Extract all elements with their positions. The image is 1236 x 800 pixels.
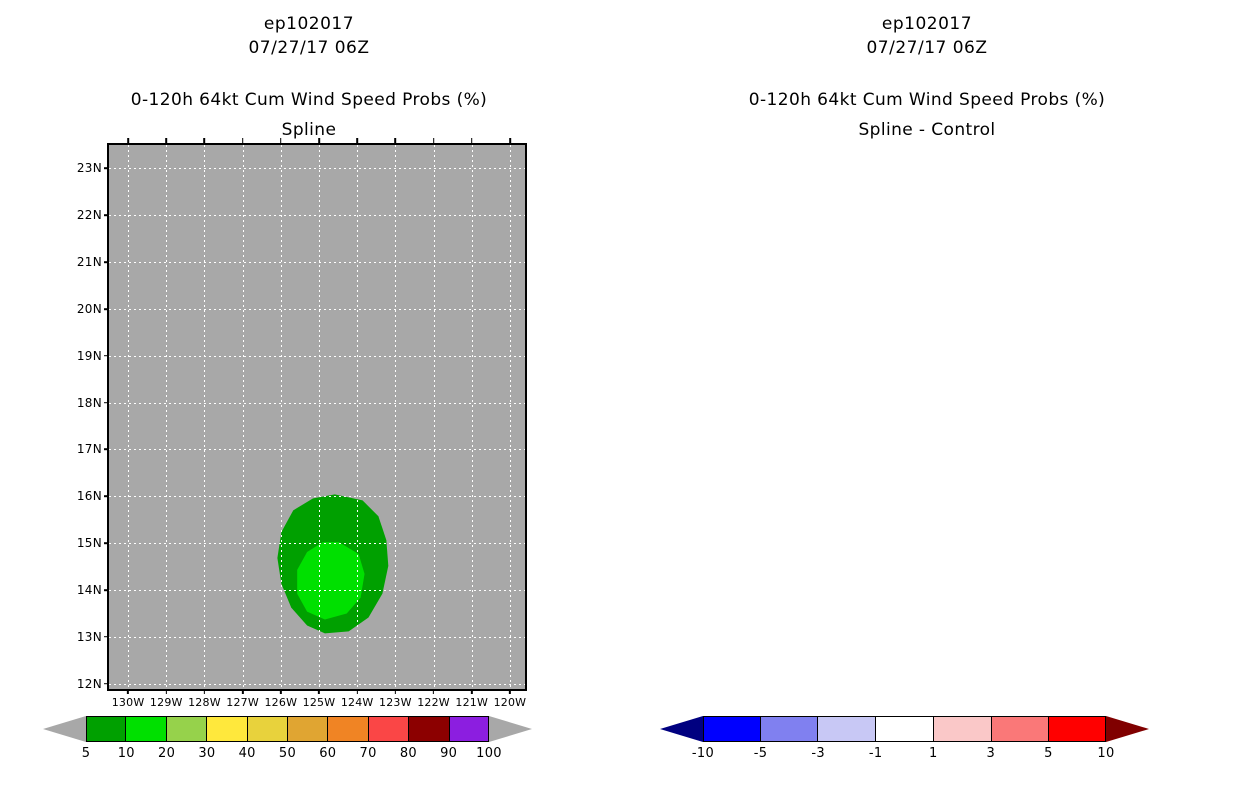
gridline-horizontal — [109, 637, 525, 638]
y-axis-tick-label: 12N — [77, 677, 109, 691]
x-axis-tick-top — [204, 138, 206, 144]
gridline-vertical — [281, 145, 282, 689]
y-axis-tick-label: 23N — [77, 161, 109, 175]
gridline-vertical — [472, 145, 473, 689]
storm-id-right: ep102017 — [618, 14, 1236, 34]
x-axis-tick-top — [433, 138, 435, 144]
y-axis-tick-label: 13N — [77, 630, 109, 644]
gridline-horizontal — [109, 590, 525, 591]
x-axis-tick-label: 127W — [226, 689, 259, 709]
datetime-left: 07/27/17 06Z — [0, 38, 618, 58]
x-axis-tick-label: 129W — [150, 689, 183, 709]
gridline-horizontal — [109, 356, 525, 357]
x-axis-tick-label: 125W — [303, 689, 336, 709]
map-canvas-left — [109, 145, 525, 689]
colorbar-tick-label: -1 — [869, 746, 883, 761]
probability-contours-left — [109, 145, 525, 689]
gridline-horizontal — [109, 496, 525, 497]
x-axis-tick-top — [242, 138, 244, 144]
gridline-vertical — [243, 145, 244, 689]
x-axis-tick-label: 130W — [112, 689, 145, 709]
x-axis-tick-label: 126W — [264, 689, 297, 709]
panel-spline: ep102017 07/27/17 06Z 0-120h 64kt Cum Wi… — [0, 0, 618, 800]
gridline-horizontal — [109, 543, 525, 544]
gridline-horizontal — [109, 449, 525, 450]
x-axis-tick-top — [165, 138, 167, 144]
x-axis-tick-top — [356, 138, 358, 144]
colorbar-tick-label: -3 — [811, 746, 825, 761]
storm-id-left: ep102017 — [0, 14, 618, 34]
colorbar-tick-label: 3 — [987, 746, 996, 761]
colorbar-border-right — [703, 716, 1106, 742]
gridline-vertical — [395, 145, 396, 689]
colorbar-tick-label: 1 — [929, 746, 938, 761]
chart-title-left: 0-120h 64kt Cum Wind Speed Probs (%) — [0, 90, 618, 110]
gridline-vertical — [434, 145, 435, 689]
gridline-vertical — [204, 145, 205, 689]
x-axis-tick-top — [318, 138, 320, 144]
x-axis-tick-top — [280, 138, 282, 144]
y-axis-tick-label: 14N — [77, 583, 109, 597]
gridline-vertical — [166, 145, 167, 689]
x-axis-tick-label: 121W — [455, 689, 488, 709]
y-axis-tick-label: 19N — [77, 349, 109, 363]
x-axis-tick-top — [509, 138, 511, 144]
x-axis-tick-label: 124W — [341, 689, 374, 709]
x-axis-tick-label: 122W — [417, 689, 450, 709]
gridline-vertical — [128, 145, 129, 689]
chart-subtitle-right: Spline - Control — [618, 120, 1236, 140]
colorbar-area-right: -10-5-3-113510 — [0, 716, 618, 776]
x-axis-tick-top — [471, 138, 473, 144]
colorbar-tick-label: 5 — [1044, 746, 1053, 761]
gridline-vertical — [510, 145, 511, 689]
x-axis-tick-label: 128W — [188, 689, 221, 709]
gridline-horizontal — [109, 262, 525, 263]
y-axis-tick-label: 22N — [77, 208, 109, 222]
y-axis-tick-label: 20N — [77, 302, 109, 316]
chart-title-right: 0-120h 64kt Cum Wind Speed Probs (%) — [618, 90, 1236, 110]
panel-spline-minus-control: ep102017 07/27/17 06Z 0-120h 64kt Cum Wi… — [618, 0, 1236, 800]
gridline-horizontal — [109, 215, 525, 216]
x-axis-tick-label: 120W — [494, 689, 527, 709]
gridline-horizontal — [109, 168, 525, 169]
y-axis-tick-label: 18N — [77, 396, 109, 410]
chart-subtitle-left: Spline — [0, 120, 618, 140]
colorbar-tick-label: 10 — [1097, 746, 1114, 761]
gridline-horizontal — [109, 684, 525, 685]
colorbar-tick-label: -5 — [754, 746, 768, 761]
y-axis-tick-label: 16N — [77, 489, 109, 503]
y-axis-tick-label: 21N — [77, 255, 109, 269]
gridline-horizontal — [109, 309, 525, 310]
map-plot-spline[interactable]: 130W129W128W127W126W125W124W123W122W121W… — [107, 143, 527, 691]
x-axis-tick-top — [395, 138, 397, 144]
y-axis-tick-label: 17N — [77, 442, 109, 456]
gridline-horizontal — [109, 403, 525, 404]
y-axis-tick-label: 15N — [77, 536, 109, 550]
colorbar-tick-label: -10 — [692, 746, 714, 761]
gridline-vertical — [357, 145, 358, 689]
datetime-right: 07/27/17 06Z — [618, 38, 1236, 58]
x-axis-tick-top — [127, 138, 129, 144]
gridline-vertical — [319, 145, 320, 689]
x-axis-tick-label: 123W — [379, 689, 412, 709]
